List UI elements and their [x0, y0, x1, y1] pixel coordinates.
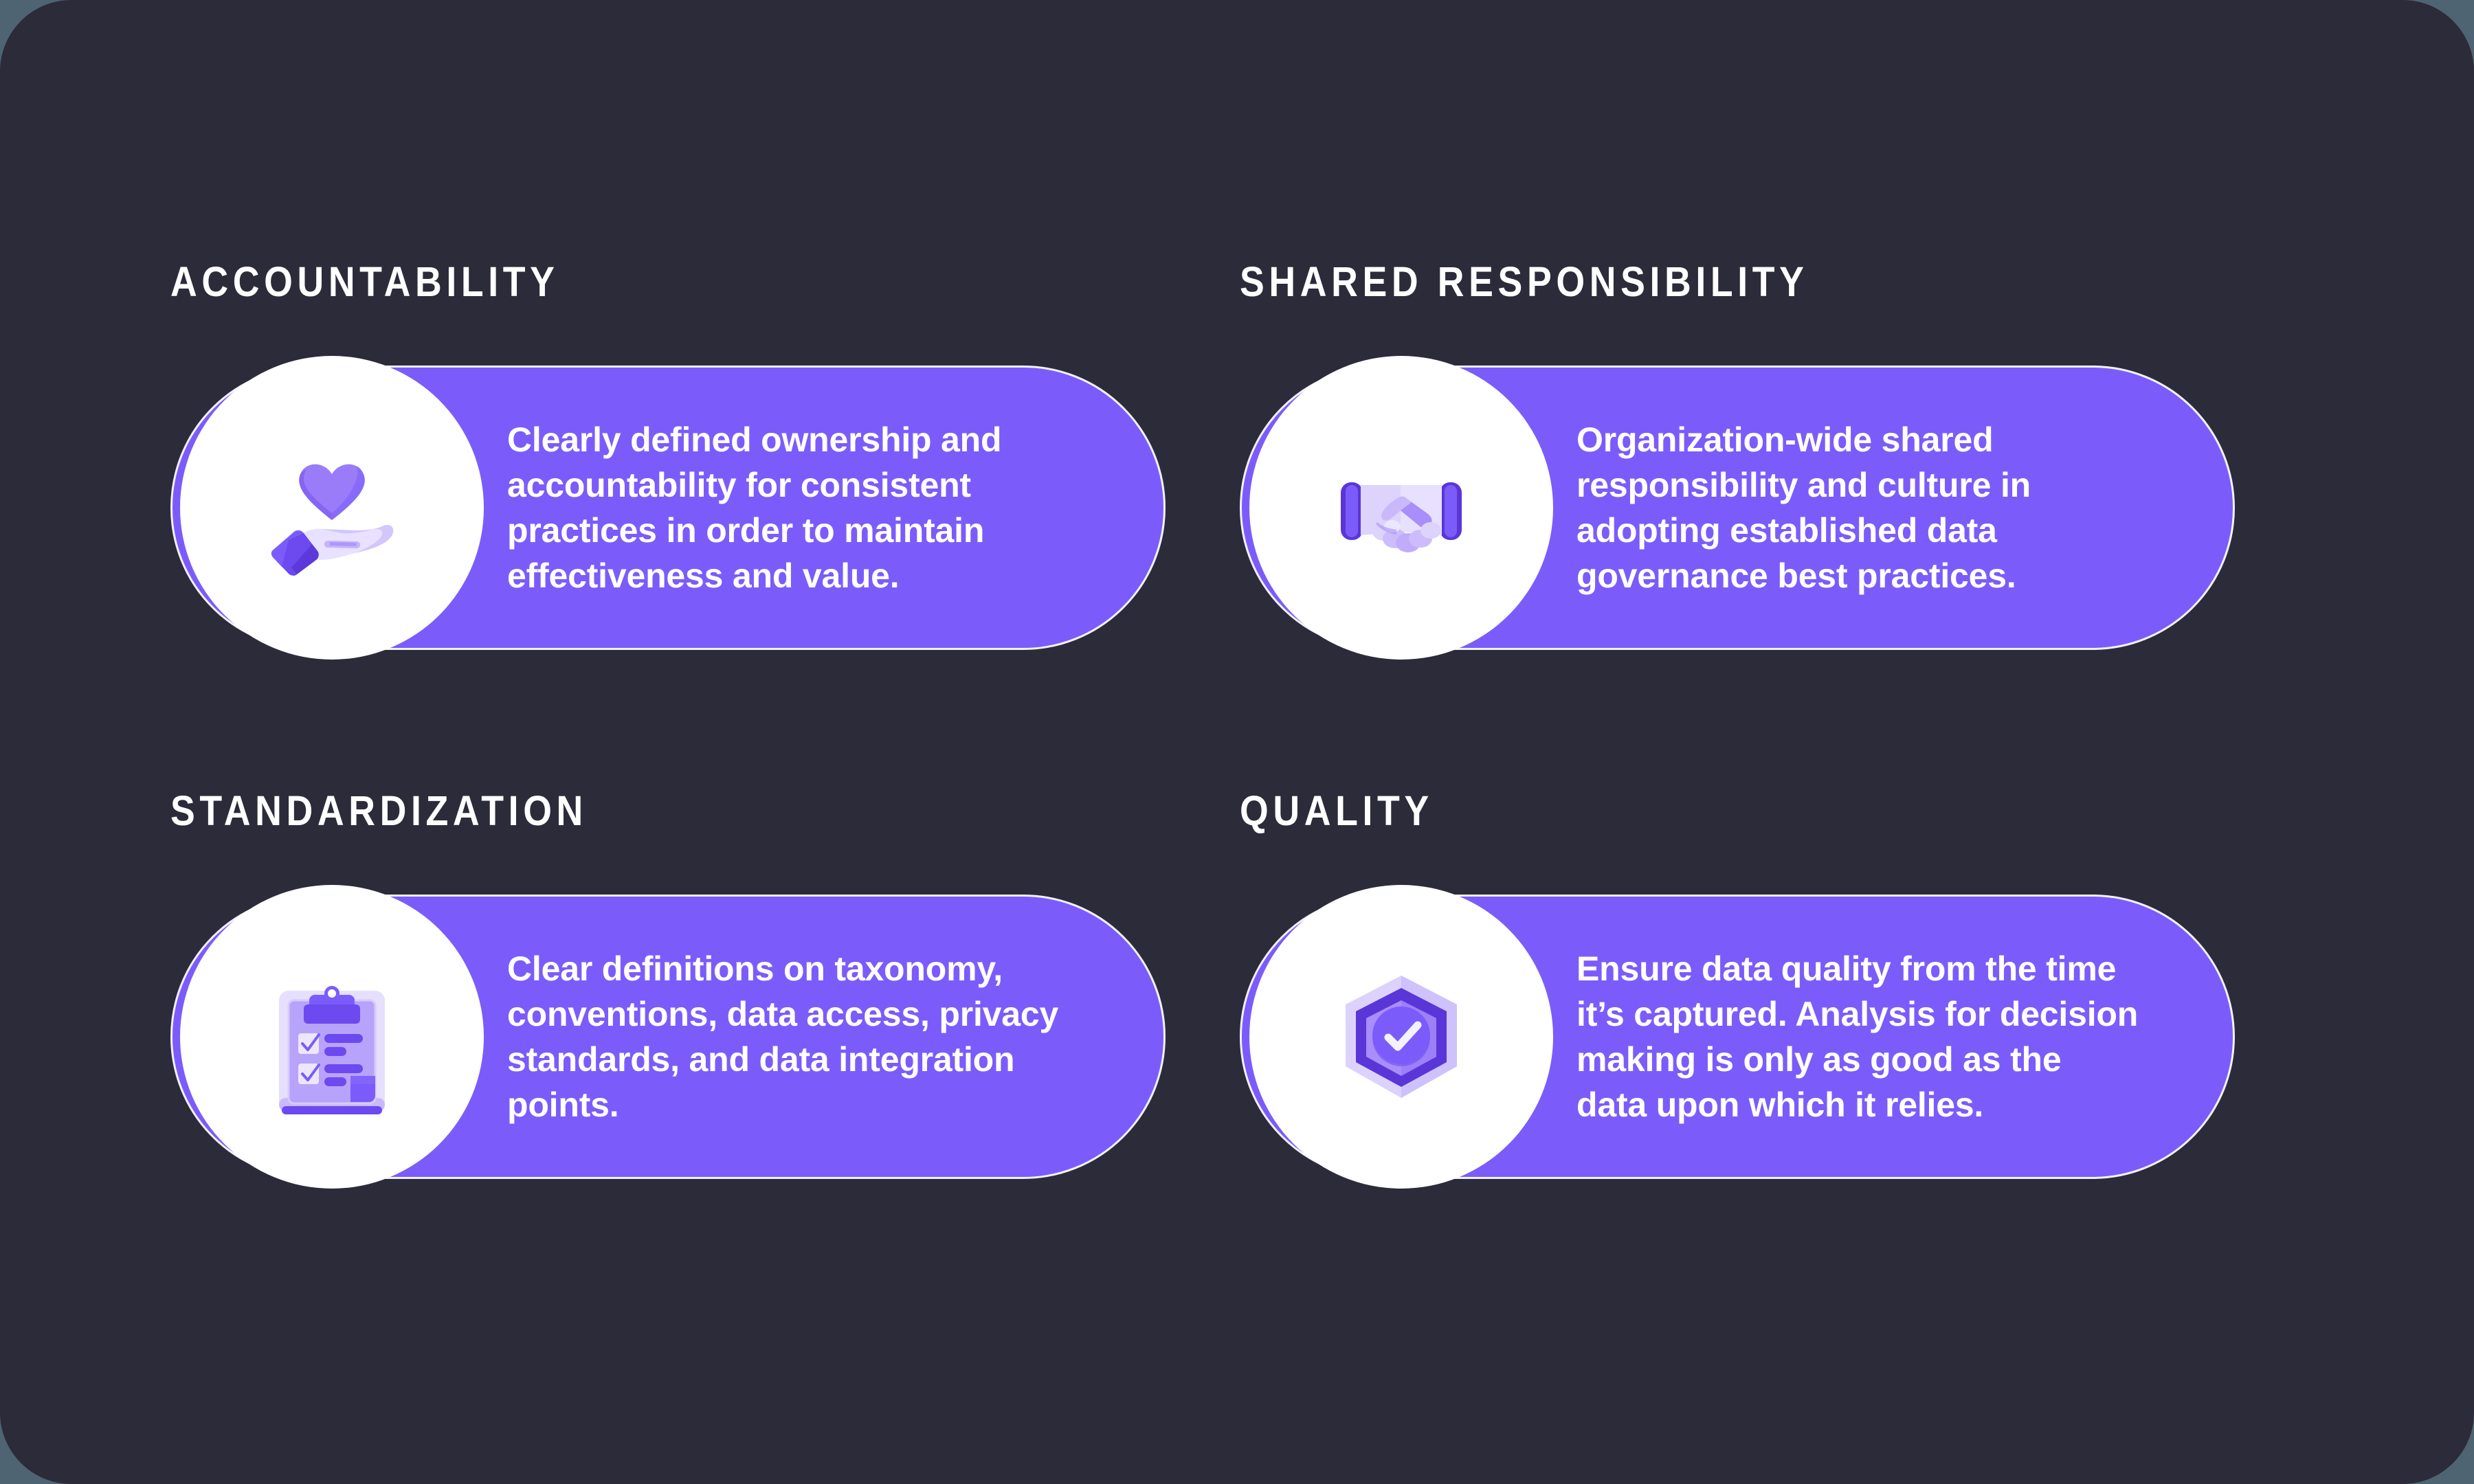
- card-quality: QUALITY Ensure data quality from the tim…: [1240, 790, 2309, 1319]
- infographic-page: ACCOUNTABILITY Clearly defined ownership…: [0, 0, 2474, 1484]
- icon-badge: [180, 885, 484, 1189]
- shield-check-icon: [1315, 951, 1487, 1123]
- card-heading: ACCOUNTABILITY: [170, 261, 559, 303]
- card-standardization: STANDARDIZATION Clear definitions on tax…: [170, 790, 1240, 1319]
- clipboard-checklist-icon: [246, 951, 418, 1123]
- card-accountability: ACCOUNTABILITY Clearly defined ownership…: [170, 261, 1240, 790]
- card-pill: Ensure data quality from the time it’s c…: [1240, 895, 2235, 1179]
- card-body-text: Organization-wide shared responsibility …: [1576, 417, 2140, 598]
- card-heading: STANDARDIZATION: [170, 790, 588, 832]
- icon-badge: [1249, 356, 1553, 660]
- card-body-text: Clear definitions on taxonomy, conventio…: [507, 946, 1071, 1127]
- card-heading: SHARED RESPONSIBILITY: [1240, 261, 1809, 303]
- card-body-text: Ensure data quality from the time it’s c…: [1576, 946, 2140, 1127]
- card-heading: QUALITY: [1240, 790, 1434, 832]
- heart-in-hand-icon: [246, 422, 418, 594]
- card-pill: Clear definitions on taxonomy, conventio…: [170, 895, 1166, 1179]
- handshake-icon: [1315, 422, 1487, 594]
- icon-badge: [180, 356, 484, 660]
- icon-badge: [1249, 885, 1553, 1189]
- card-pill: Organization-wide shared responsibility …: [1240, 366, 2235, 650]
- principles-grid: ACCOUNTABILITY Clearly defined ownership…: [170, 261, 2309, 1319]
- card-body-text: Clearly defined ownership and accountabi…: [507, 417, 1071, 598]
- card-pill: Clearly defined ownership and accountabi…: [170, 366, 1166, 650]
- card-shared-responsibility: SHARED RESPONSIBILITY Organization-wide …: [1240, 261, 2309, 790]
